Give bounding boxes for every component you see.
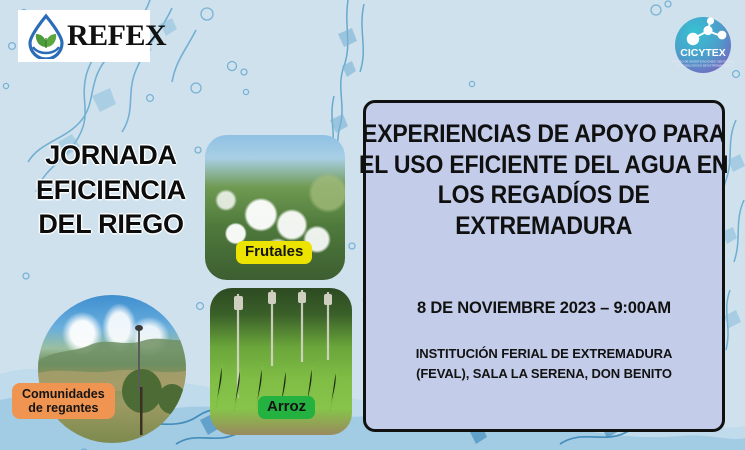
event-info-box: EXPERIENCIAS DE APOYO PARA EL USO EFICIE… (363, 100, 725, 432)
cicytex-wordmark: CICYTEX (680, 47, 726, 59)
event-title-line-4: EXTREMADURA (359, 211, 728, 242)
cicytex-logo: CICYTEX CENTRO DE INVESTIGACIONES CIENTI… (672, 14, 734, 76)
event-venue-line-2: (FEVAL), SALA LA SERENA, DON BENITO (416, 364, 672, 384)
water-drop-leaf-icon (24, 13, 68, 59)
headline-line-1: JORNADA (16, 138, 206, 173)
svg-text:Y TECNOLOGICAS DE EXTREMADURA: Y TECNOLOGICAS DE EXTREMADURA (676, 64, 729, 68)
refex-logo: REFEX (18, 10, 150, 62)
badge-arroz: Arroz (258, 396, 315, 419)
event-title-line-2: EL USO EFICIENTE DEL AGUA EN (359, 150, 728, 181)
event-title-line-3: LOS REGADÍOS DE (359, 180, 728, 211)
badge-comunidades-de-regantes: Comunidades de regantes (12, 383, 115, 419)
event-venue: INSTITUCIÓN FERIAL DE EXTREMADURA (FEVAL… (416, 344, 672, 383)
event-title-line-1: EXPERIENCIAS DE APOYO PARA (359, 119, 728, 150)
headline-line-2: EFICIENCIA (16, 173, 206, 208)
page-title: JORNADA EFICIENCIA DEL RIEGO (16, 138, 206, 242)
headline-line-3: DEL RIEGO (16, 207, 206, 242)
badge-frutales: Frutales (236, 241, 312, 264)
event-date: 8 DE NOVIEMBRE 2023 – 9:00AM (417, 299, 671, 318)
event-poster: REFEX CICYTEX CENTRO DE INVESTIGACIONES … (0, 0, 745, 450)
refex-wordmark: REFEX (67, 21, 166, 51)
event-title: EXPERIENCIAS DE APOYO PARA EL USO EFICIE… (359, 119, 728, 241)
photo-comunidades-de-regantes (38, 295, 186, 443)
event-venue-line-1: INSTITUCIÓN FERIAL DE EXTREMADURA (416, 344, 672, 364)
